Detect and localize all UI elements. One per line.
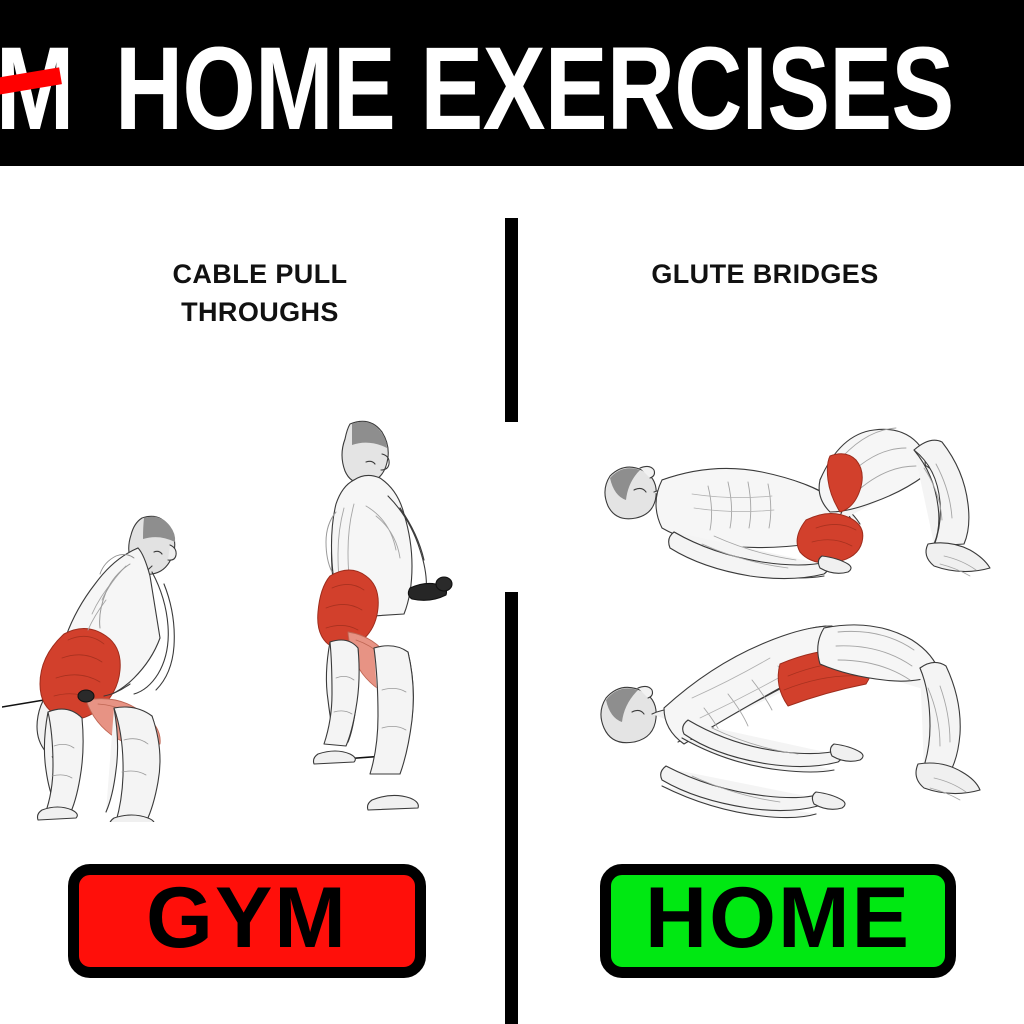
cable-pull-through-lockout-illustration — [292, 412, 508, 820]
header-main-text: HOME EXERCISES — [115, 34, 954, 145]
left-column-title-line1: CABLE PULL — [60, 255, 460, 293]
header-bar: GYM HOME EXERCISES — [0, 0, 1024, 166]
left-column-title: CABLE PULL THROUGHS — [60, 255, 460, 332]
left-column-title-line2: THROUGHS — [60, 293, 460, 331]
right-column-title: GLUTE BRIDGES — [565, 255, 965, 293]
header-inner: GYM HOME EXERCISES — [0, 0, 1024, 166]
glute-bridge-start-illustration — [592, 424, 994, 600]
vertical-divider-top — [505, 218, 518, 422]
header-struck-word: GYM — [0, 34, 74, 145]
page-title: GYM HOME EXERCISES — [0, 34, 1024, 145]
cable-pull-through-hinge-illustration — [2, 488, 248, 822]
gym-badge[interactable]: GYM — [68, 864, 426, 978]
home-badge[interactable]: HOME — [600, 864, 956, 978]
struck-word-wrapper: GYM — [0, 34, 127, 145]
home-badge-label: HOME — [645, 875, 911, 961]
right-column-title-line1: GLUTE BRIDGES — [565, 255, 965, 293]
glute-bridge-top-illustration — [592, 602, 994, 820]
gym-badge-label: GYM — [146, 875, 348, 961]
infographic-root: GYM HOME EXERCISES CABLE PULL THROUGHS G… — [0, 0, 1024, 1024]
